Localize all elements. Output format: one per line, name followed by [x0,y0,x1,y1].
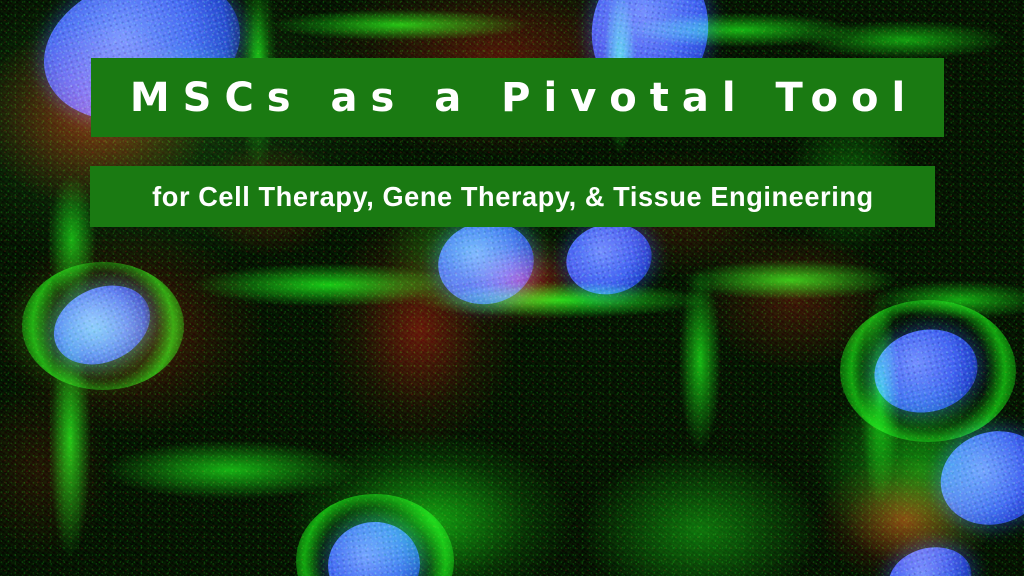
page-subtitle: for Cell Therapy, Gene Therapy, & Tissue… [152,183,874,211]
nucleus-center-right [560,216,659,302]
title-banner: MSCs as a Pivotal Tool [91,58,944,137]
page-title: MSCs as a Pivotal Tool [117,78,918,118]
nucleus-center-upper [432,214,541,311]
title-slide: MSCs as a Pivotal Tool for Cell Therapy,… [0,0,1024,576]
nucleus-bottom-right [882,539,979,576]
subtitle-banner: for Cell Therapy, Gene Therapy, & Tissue… [90,166,935,227]
